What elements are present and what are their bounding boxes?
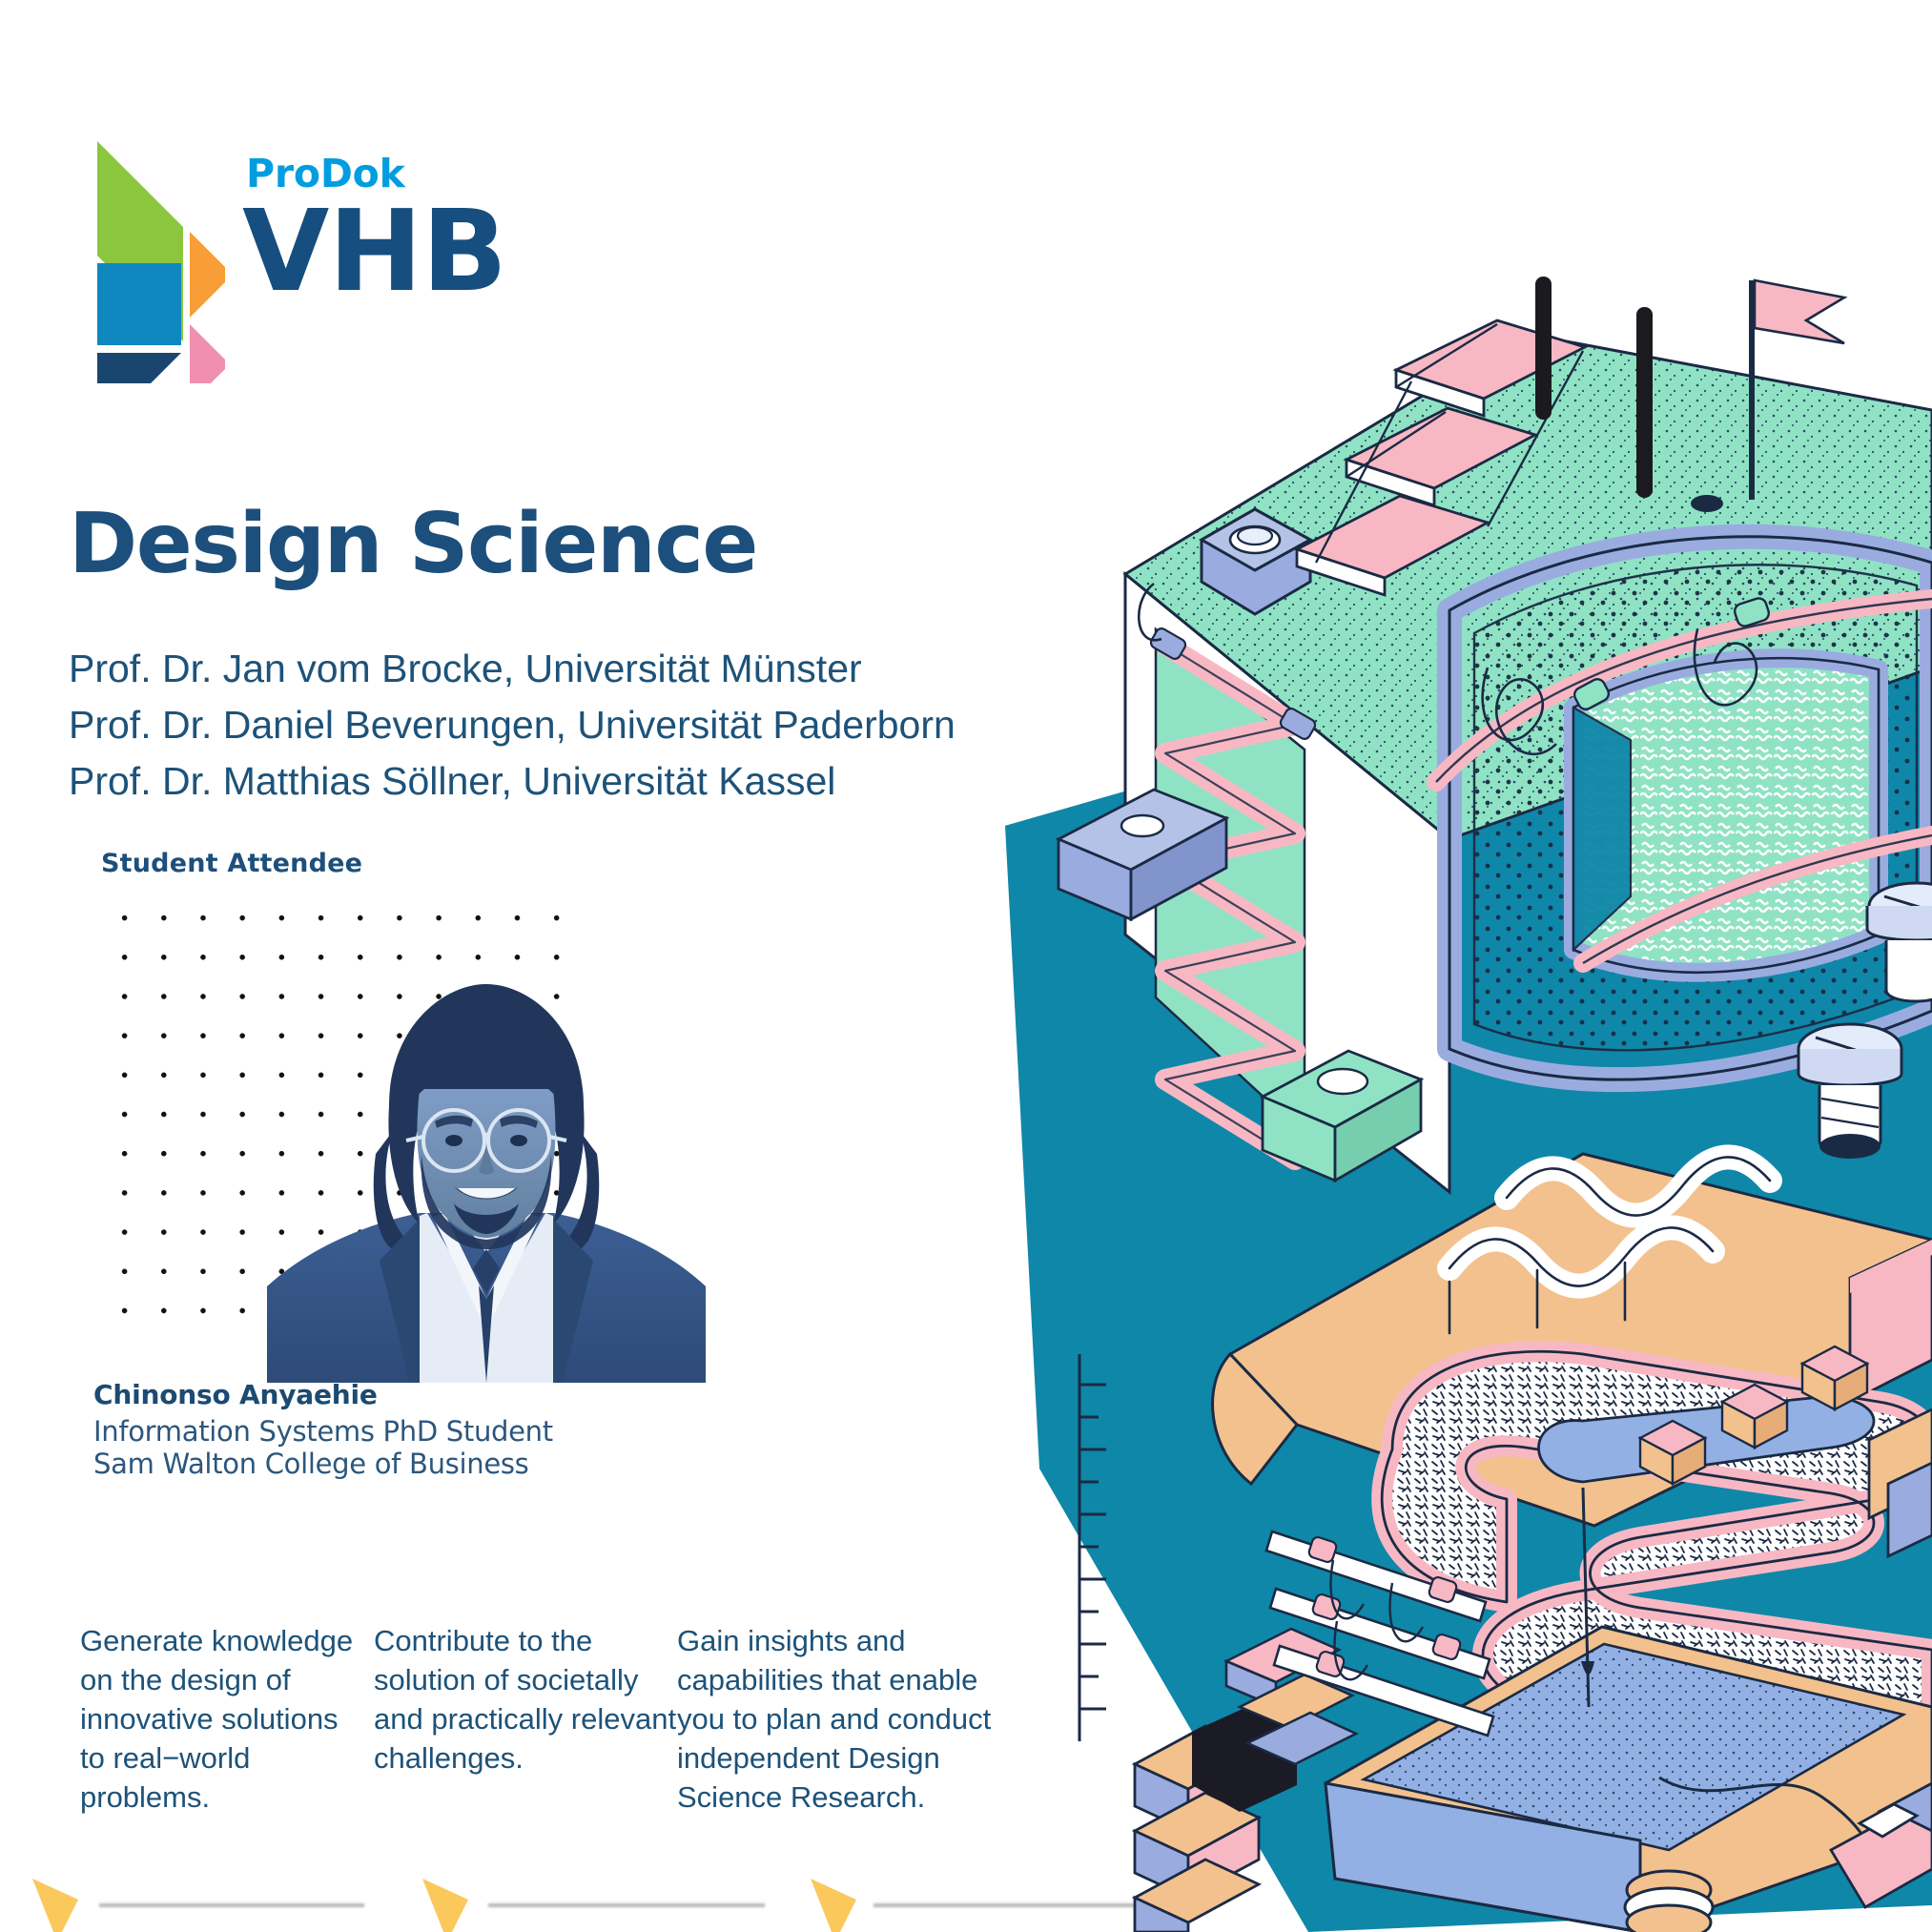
benefit-item-2: Contribute to the solution of societally…	[374, 1621, 679, 1778]
black-post-2	[1636, 307, 1653, 498]
attendee-role: Information Systems PhD Student	[93, 1415, 553, 1448]
attendee-name: Chinonso Anyaehie	[93, 1381, 378, 1408]
attendee-photo	[267, 963, 706, 1383]
isometric-illustration	[915, 0, 1932, 1932]
divider-rule-1	[99, 1902, 364, 1908]
vhb-prodok-logo: ProDok VHB	[92, 134, 492, 381]
logo-vhb-text: VHB	[242, 195, 506, 307]
instructor-2: Prof. Dr. Daniel Beverungen, Universität…	[69, 697, 956, 753]
divider-rule-2	[488, 1902, 765, 1908]
triangle-marker-2	[422, 1879, 468, 1932]
attendee-affiliation: Sam Walton College of Business	[93, 1448, 553, 1480]
page-title: Design Science	[69, 501, 757, 587]
triangle-marker-1	[32, 1879, 78, 1932]
instructor-1: Prof. Dr. Jan vom Brocke, Universität Mü…	[69, 641, 956, 697]
attendee-details: Information Systems PhD Student Sam Walt…	[93, 1415, 553, 1480]
vhb-logo-mark-icon	[92, 134, 225, 383]
poster-canvas: ProDok VHB Design Science Prof. Dr. Jan …	[0, 0, 1932, 1932]
instructor-3: Prof. Dr. Matthias Söllner, Universität …	[69, 753, 956, 810]
foot-pedal	[1625, 1871, 1713, 1932]
benefit-item-1: Generate knowledge on the design of inno…	[80, 1621, 366, 1817]
student-attendee-label: Student Attendee	[101, 849, 362, 878]
black-post-1	[1535, 277, 1552, 420]
triangle-marker-3	[811, 1879, 856, 1932]
isometric-design-science-graphic	[915, 0, 1932, 1932]
attendee-portrait-image	[267, 963, 706, 1383]
instructor-list: Prof. Dr. Jan vom Brocke, Universität Mü…	[69, 641, 956, 810]
